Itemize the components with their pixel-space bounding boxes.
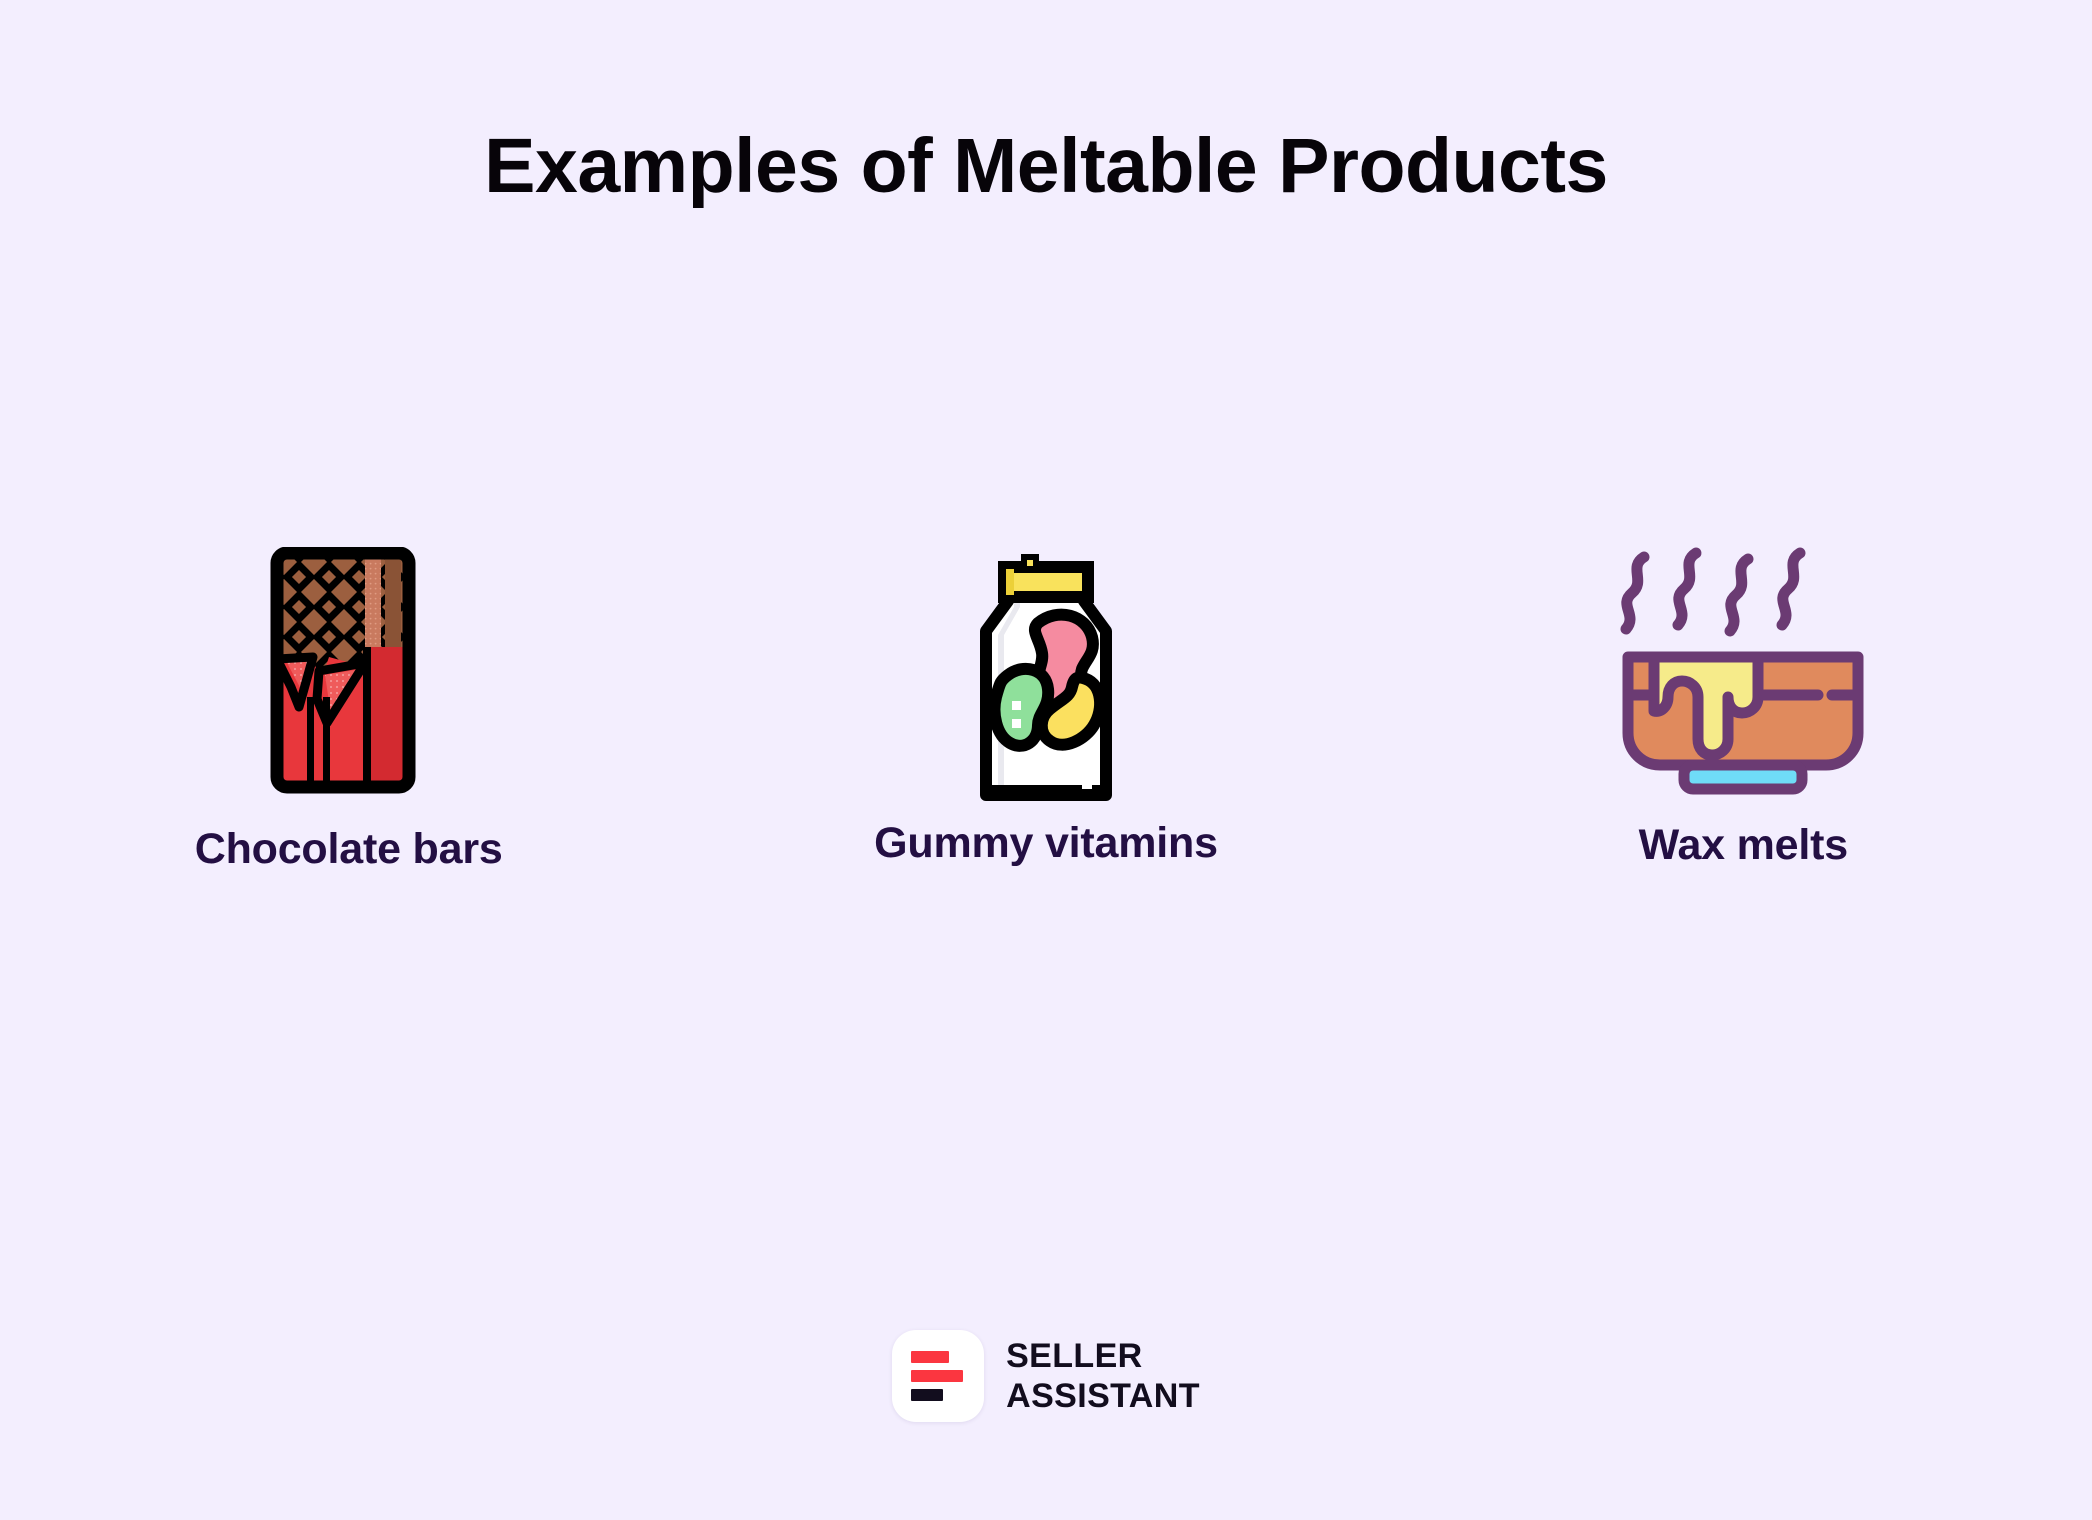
brand-line-assistant: ASSISTANT (1006, 1376, 1200, 1416)
brand-name: SELLER ASSISTANT (1006, 1336, 1200, 1416)
seller-assistant-logo-icon (892, 1330, 984, 1422)
logo-group: SELLER ASSISTANT (892, 1330, 1200, 1422)
brand-line-seller: SELLER (1006, 1336, 1200, 1376)
page-title: Examples of Meltable Products (0, 124, 2092, 209)
wax-warmer-icon (1614, 545, 1872, 795)
product-label-gummy-vitamins: Gummy vitamins (874, 819, 1218, 868)
steam-icon (1626, 553, 1800, 631)
gummy-jar-icon-wrap (946, 545, 1146, 795)
product-label-chocolate-bars: Chocolate bars (195, 825, 503, 874)
product-item-chocolate-bars: Chocolate bars (69, 545, 629, 874)
product-item-gummy-vitamins: Gummy vitamins (766, 545, 1326, 868)
wax-warmer-icon-wrap (1614, 545, 1872, 795)
chocolate-bar-icon (269, 547, 429, 795)
logo-bar-middle (911, 1370, 963, 1382)
footer-branding: SELLER ASSISTANT (0, 1330, 2092, 1422)
logo-bar-bottom (911, 1389, 943, 1401)
product-label-wax-melts: Wax melts (1639, 821, 1848, 870)
product-item-wax-melts: Wax melts (1463, 545, 2023, 870)
chocolate-bar-icon-wrap (269, 545, 429, 795)
logo-bar-top (911, 1351, 949, 1363)
gummy-jar-icon (946, 545, 1146, 801)
infographic-page: Examples of Meltable Products (0, 0, 2092, 1520)
product-examples-row: Chocolate bars (0, 545, 2092, 945)
